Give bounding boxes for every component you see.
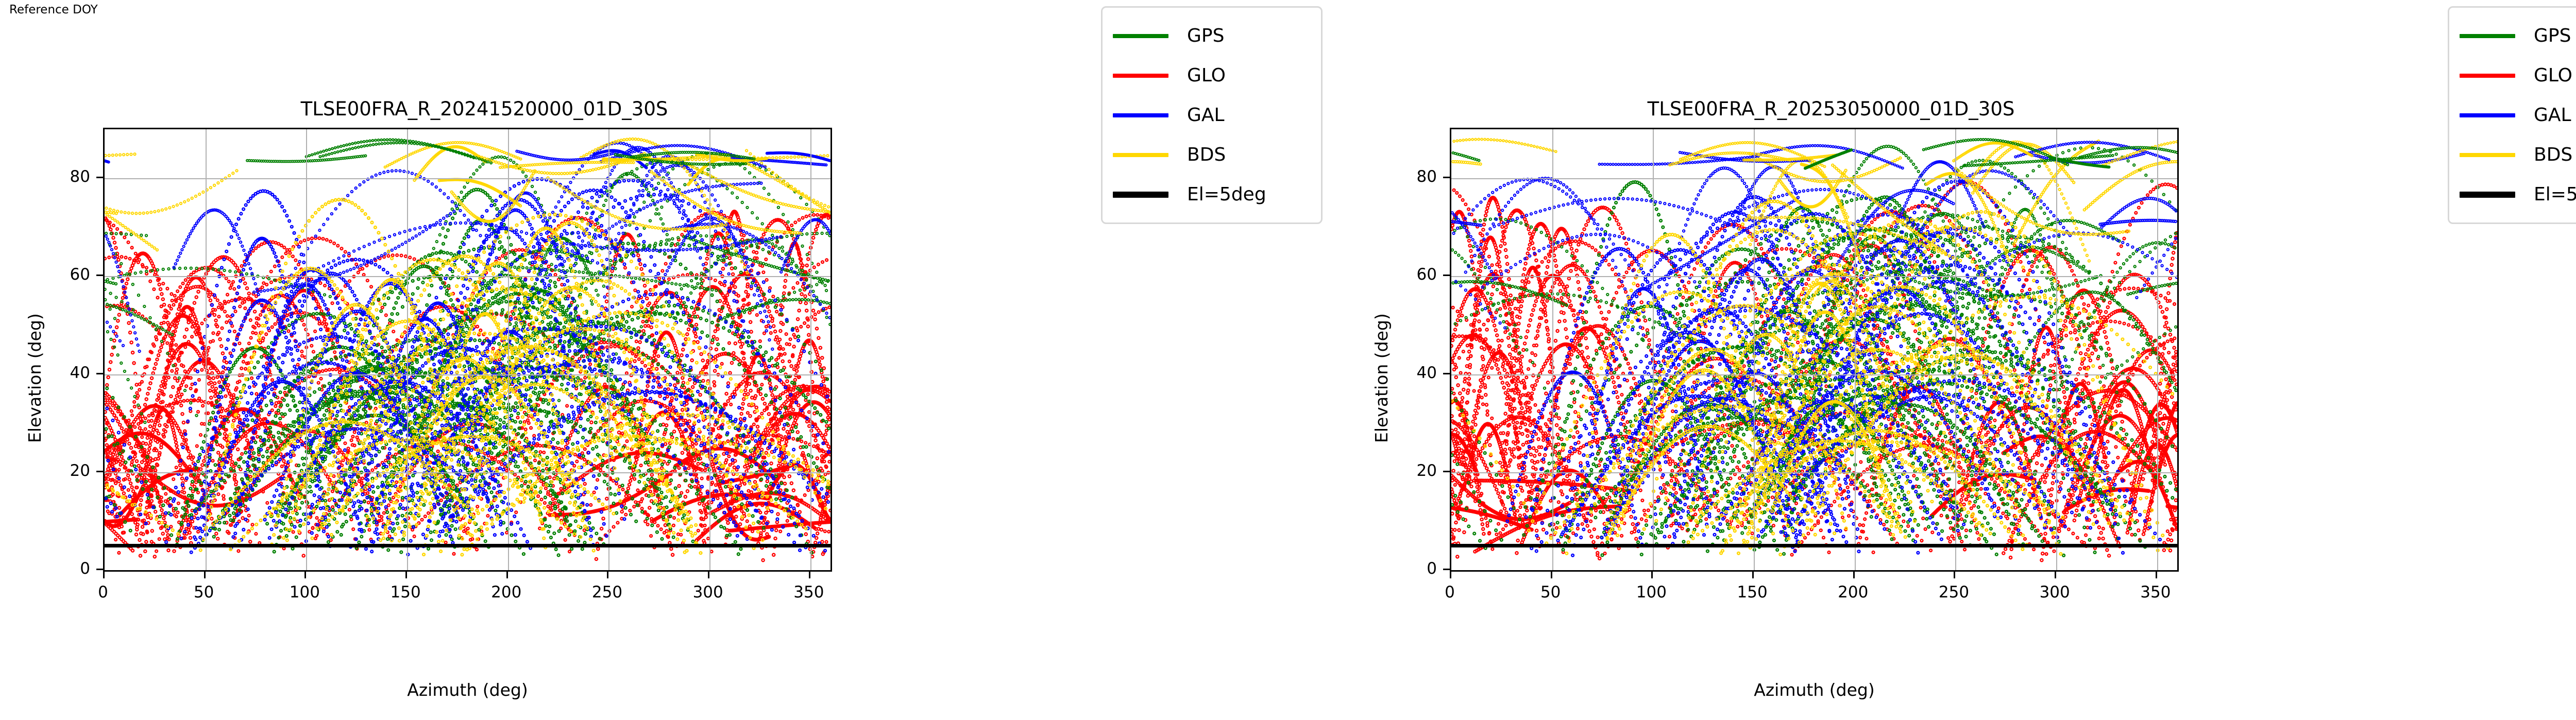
x-tick-mark (304, 572, 306, 578)
x-tick-mark (103, 572, 105, 578)
x-axis-label: Azimuth (deg) (1450, 680, 2179, 700)
x-tick-label: 200 (491, 583, 521, 602)
legend-item-bds[interactable]: BDS (2460, 135, 2576, 175)
y-tick-label: 80 (1391, 167, 1437, 186)
y-tick-mark (96, 177, 103, 178)
gridline-vertical (407, 129, 408, 570)
legend-item-gal[interactable]: GAL (2460, 95, 2576, 135)
gridline-horizontal (1451, 374, 2177, 375)
gridline-horizontal (105, 472, 831, 473)
sky-track-traces-1 (1451, 129, 2177, 570)
gridline-vertical (1955, 129, 1956, 570)
y-tick-label: 60 (44, 265, 90, 284)
legend-swatch-icon (2460, 74, 2515, 78)
legend-item-glo[interactable]: GLO (1113, 56, 1308, 95)
x-tick-mark (405, 572, 407, 578)
legend-item-label: El=5deg (1187, 184, 1266, 205)
plot-area (1450, 128, 2179, 572)
y-tick-mark (1443, 373, 1450, 374)
y-tick-label: 20 (44, 461, 90, 480)
sky-track-traces-0 (105, 129, 831, 570)
x-tick-mark (1954, 572, 1955, 578)
legend-item-label: GAL (1187, 105, 1225, 126)
x-tick-mark (506, 572, 508, 578)
y-tick-mark (1443, 471, 1450, 472)
x-tick-label: 0 (1445, 583, 1455, 602)
legend-item-el-5deg[interactable]: El=5deg (1113, 175, 1308, 214)
legend-swatch-icon (2460, 153, 2515, 157)
legend-swatch-icon (2460, 34, 2515, 38)
subplot-title: TLSE00FRA_R_20253050000_01D_30S (1378, 98, 2284, 120)
gridline-vertical (2056, 129, 2057, 570)
legend-item-bds[interactable]: BDS (1113, 135, 1308, 175)
legend-swatch-icon (1113, 74, 1168, 78)
x-tick-label: 250 (592, 583, 622, 602)
x-tick-mark (1551, 572, 1552, 578)
figure-canvas: Reference DOY TLSE00FRA_R_20241520000_01… (0, 0, 2576, 720)
x-tick-label: 350 (2140, 583, 2171, 602)
x-tick-label: 100 (1636, 583, 1667, 602)
gridline-horizontal (1451, 178, 2177, 179)
gridline-horizontal (105, 374, 831, 375)
y-tick-label: 40 (44, 364, 90, 382)
y-axis-label: Elevation (deg) (25, 313, 45, 443)
plot-area (103, 128, 832, 572)
legend-item-label: BDS (2534, 144, 2572, 165)
gridline-vertical (1855, 129, 1856, 570)
legend-item-label: GPS (2534, 25, 2571, 46)
x-tick-mark (2156, 572, 2157, 578)
y-tick-label: 0 (1391, 559, 1437, 578)
legend-swatch-icon (2460, 113, 2515, 117)
legend-swatch-icon (1113, 34, 1168, 38)
legend-item-label: GAL (2534, 105, 2571, 126)
panel-1: TLSE00FRA_R_20253050000_01D_30S Azimuth … (1347, 0, 2576, 720)
legend-item-label: GLO (2534, 65, 2572, 86)
y-tick-label: 20 (1391, 461, 1437, 480)
legend-swatch-icon (1113, 192, 1168, 198)
legend: GPSGLOGALBDSEl=5deg (1101, 6, 1323, 224)
x-tick-mark (204, 572, 206, 578)
x-tick-mark (1853, 572, 1855, 578)
legend-item-glo[interactable]: GLO (2460, 56, 2576, 95)
y-tick-label: 60 (1391, 265, 1437, 284)
gridline-vertical (709, 129, 710, 570)
legend-swatch-icon (1113, 153, 1168, 157)
y-tick-label: 80 (44, 167, 90, 186)
legend-swatch-icon (1113, 113, 1168, 117)
y-tick-mark (1443, 275, 1450, 276)
y-tick-mark (96, 471, 103, 472)
x-tick-mark (607, 572, 608, 578)
gridline-vertical (508, 129, 509, 570)
gridline-horizontal (105, 276, 831, 277)
gridline-vertical (206, 129, 207, 570)
gridline-horizontal (1451, 276, 2177, 277)
y-tick-mark (96, 373, 103, 374)
x-tick-label: 250 (1939, 583, 1969, 602)
x-tick-label: 50 (1540, 583, 1561, 602)
y-tick-label: 0 (44, 559, 90, 578)
gridline-vertical (608, 129, 609, 570)
x-tick-mark (708, 572, 709, 578)
y-tick-label: 40 (1391, 364, 1437, 382)
gridline-vertical (1653, 129, 1654, 570)
gridline-vertical (1754, 129, 1755, 570)
x-tick-mark (2055, 572, 2056, 578)
x-tick-label: 300 (693, 583, 723, 602)
gridline-horizontal (105, 178, 831, 179)
gridline-vertical (1552, 129, 1553, 570)
x-tick-mark (809, 572, 810, 578)
legend-item-gal[interactable]: GAL (1113, 95, 1308, 135)
legend-item-gps[interactable]: GPS (2460, 16, 2576, 56)
x-tick-mark (1450, 572, 1451, 578)
subplot-title: TLSE00FRA_R_20241520000_01D_30S (31, 98, 938, 120)
legend-item-gps[interactable]: GPS (1113, 16, 1308, 56)
y-tick-mark (96, 569, 103, 570)
x-tick-label: 150 (1737, 583, 1767, 602)
x-tick-label: 50 (194, 583, 214, 602)
legend: GPSGLOGALBDSEl=5deg (2448, 6, 2576, 224)
legend-swatch-icon (2460, 192, 2515, 198)
panel-0: TLSE00FRA_R_20241520000_01D_30S Azimuth … (0, 0, 1347, 720)
x-tick-mark (1752, 572, 1754, 578)
gridline-vertical (810, 129, 811, 570)
gridline-horizontal (1451, 472, 2177, 473)
x-tick-mark (1651, 572, 1653, 578)
y-axis-label: Elevation (deg) (1371, 313, 1392, 443)
legend-item-label: El=5deg (2534, 184, 2576, 205)
legend-item-label: GPS (1187, 25, 1224, 46)
x-tick-label: 300 (2040, 583, 2070, 602)
y-tick-mark (1443, 569, 1450, 570)
legend-item-label: BDS (1187, 144, 1226, 165)
el5-reference-line (1451, 544, 2177, 547)
y-tick-mark (1443, 177, 1450, 178)
gridline-vertical (306, 129, 307, 570)
gridline-vertical (2157, 129, 2158, 570)
x-axis-label: Azimuth (deg) (103, 680, 832, 700)
y-tick-mark (96, 275, 103, 276)
legend-item-label: GLO (1187, 65, 1226, 86)
legend-item-el-5deg[interactable]: El=5deg (2460, 175, 2576, 214)
x-tick-label: 0 (98, 583, 108, 602)
x-tick-label: 150 (390, 583, 420, 602)
el5-reference-line (105, 544, 831, 547)
x-tick-label: 100 (290, 583, 320, 602)
x-tick-label: 200 (1838, 583, 1868, 602)
x-tick-label: 350 (793, 583, 824, 602)
